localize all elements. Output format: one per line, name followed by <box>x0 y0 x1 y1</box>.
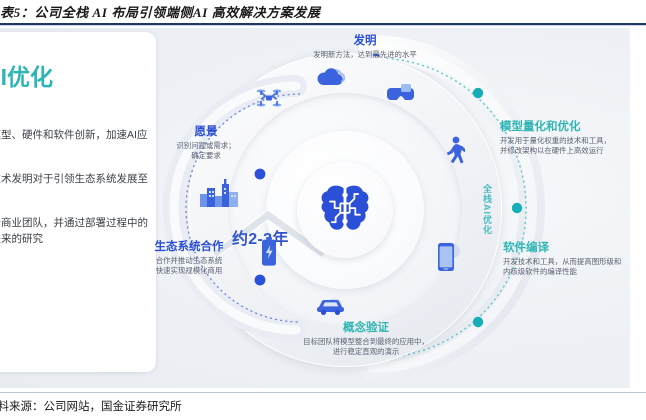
figure-caption: 表5：公司全栈 AI 布局引领端侧AI 高效解决方案发展 <box>0 2 321 21</box>
node-invention-subtitle: 发明新方法，达到最先进的水平 <box>275 50 455 60</box>
fullstack-ai-card: 全栈AI优化 通过跨层的模型、硬件和软件创新，加速AI应用 早期研发和技术发明对… <box>0 32 156 372</box>
center-hub <box>297 162 393 258</box>
card-bullet-2: 早期研发和技术发明对于引领生态系统发展至关重要 <box>0 172 150 203</box>
node-ecosystem: 生态系统合作 合作并推动生态系统 快速实现规模化商用 <box>114 240 264 276</box>
node-vision: 愿景 识别问题或需求； 确定要求 <box>136 125 276 161</box>
node-ecosystem-title: 生态系统合作 <box>114 240 264 254</box>
node-compilation: 软件编译 开发技术和工具，从而提高图形级和 内核级软件的编译性能 <box>503 241 630 277</box>
node-poc-subtitle: 目标团队将模型整合到最终的应用中， 进行稳定直观的演示 <box>256 337 476 357</box>
node-invention: 发明 发明新方法，达到最先进的水平 <box>275 34 455 60</box>
figure-page: 表5：公司全栈 AI 布局引领端侧AI 高效解决方案发展 全栈AI优化 通过跨层… <box>0 0 646 420</box>
node-compilation-subtitle: 开发技术和工具，从而提高图形级和 内核级软件的编译性能 <box>503 257 630 277</box>
smartphone-icon <box>436 241 456 273</box>
node-vision-subtitle: 识别问题或需求； 确定要求 <box>136 141 276 161</box>
pedestrian-icon <box>445 136 465 166</box>
cloud-icon <box>315 66 345 88</box>
node-poc-title: 概念验证 <box>256 321 476 335</box>
node-quantization-title: 模型量化和优化 <box>500 120 630 134</box>
node-compilation-title: 软件编译 <box>503 241 630 255</box>
node-dot-ecosystem <box>255 275 266 286</box>
ring-vertical-label: 全栈AI优化 <box>481 184 494 235</box>
source-note: 资料来源：公司网站，国金证券研究所 <box>0 398 182 414</box>
node-invention-title: 发明 <box>275 34 455 48</box>
drone-icon <box>256 86 282 110</box>
node-poc: 概念验证 目标团队将模型整合到最终的应用中， 进行稳定直观的演示 <box>256 321 476 357</box>
fullstack-ai-diagram: 约2-3年 全栈AI优化 <box>150 28 630 388</box>
card-bullet-1: 通过跨层的模型、硬件和软件创新，加速AI应用 <box>0 128 150 159</box>
figure-canvas: 全栈AI优化 通过跨层的模型、硬件和软件创新，加速AI应用 早期研发和技术发明对… <box>0 28 630 388</box>
node-vision-title: 愿景 <box>136 125 276 139</box>
caption-rule-thin <box>0 25 646 26</box>
node-ecosystem-subtitle: 合作并推动生态系统 快速实现规模化商用 <box>114 256 264 276</box>
car-icon <box>316 296 348 316</box>
factory-icon <box>198 178 240 208</box>
ai-brain-icon <box>315 180 375 240</box>
card-heading: 全栈AI优化 <box>0 58 53 92</box>
vr-headset-icon <box>386 82 414 106</box>
source-rule <box>0 392 646 393</box>
node-quantization: 模型量化和优化 开发用于量化权重的技术和工具， 并修改架构以在硬件上高效运行 <box>500 120 630 156</box>
node-dot-vision <box>255 169 266 180</box>
node-quantization-subtitle: 开发用于量化权重的技术和工具， 并修改架构以在硬件上高效运行 <box>500 136 630 156</box>
